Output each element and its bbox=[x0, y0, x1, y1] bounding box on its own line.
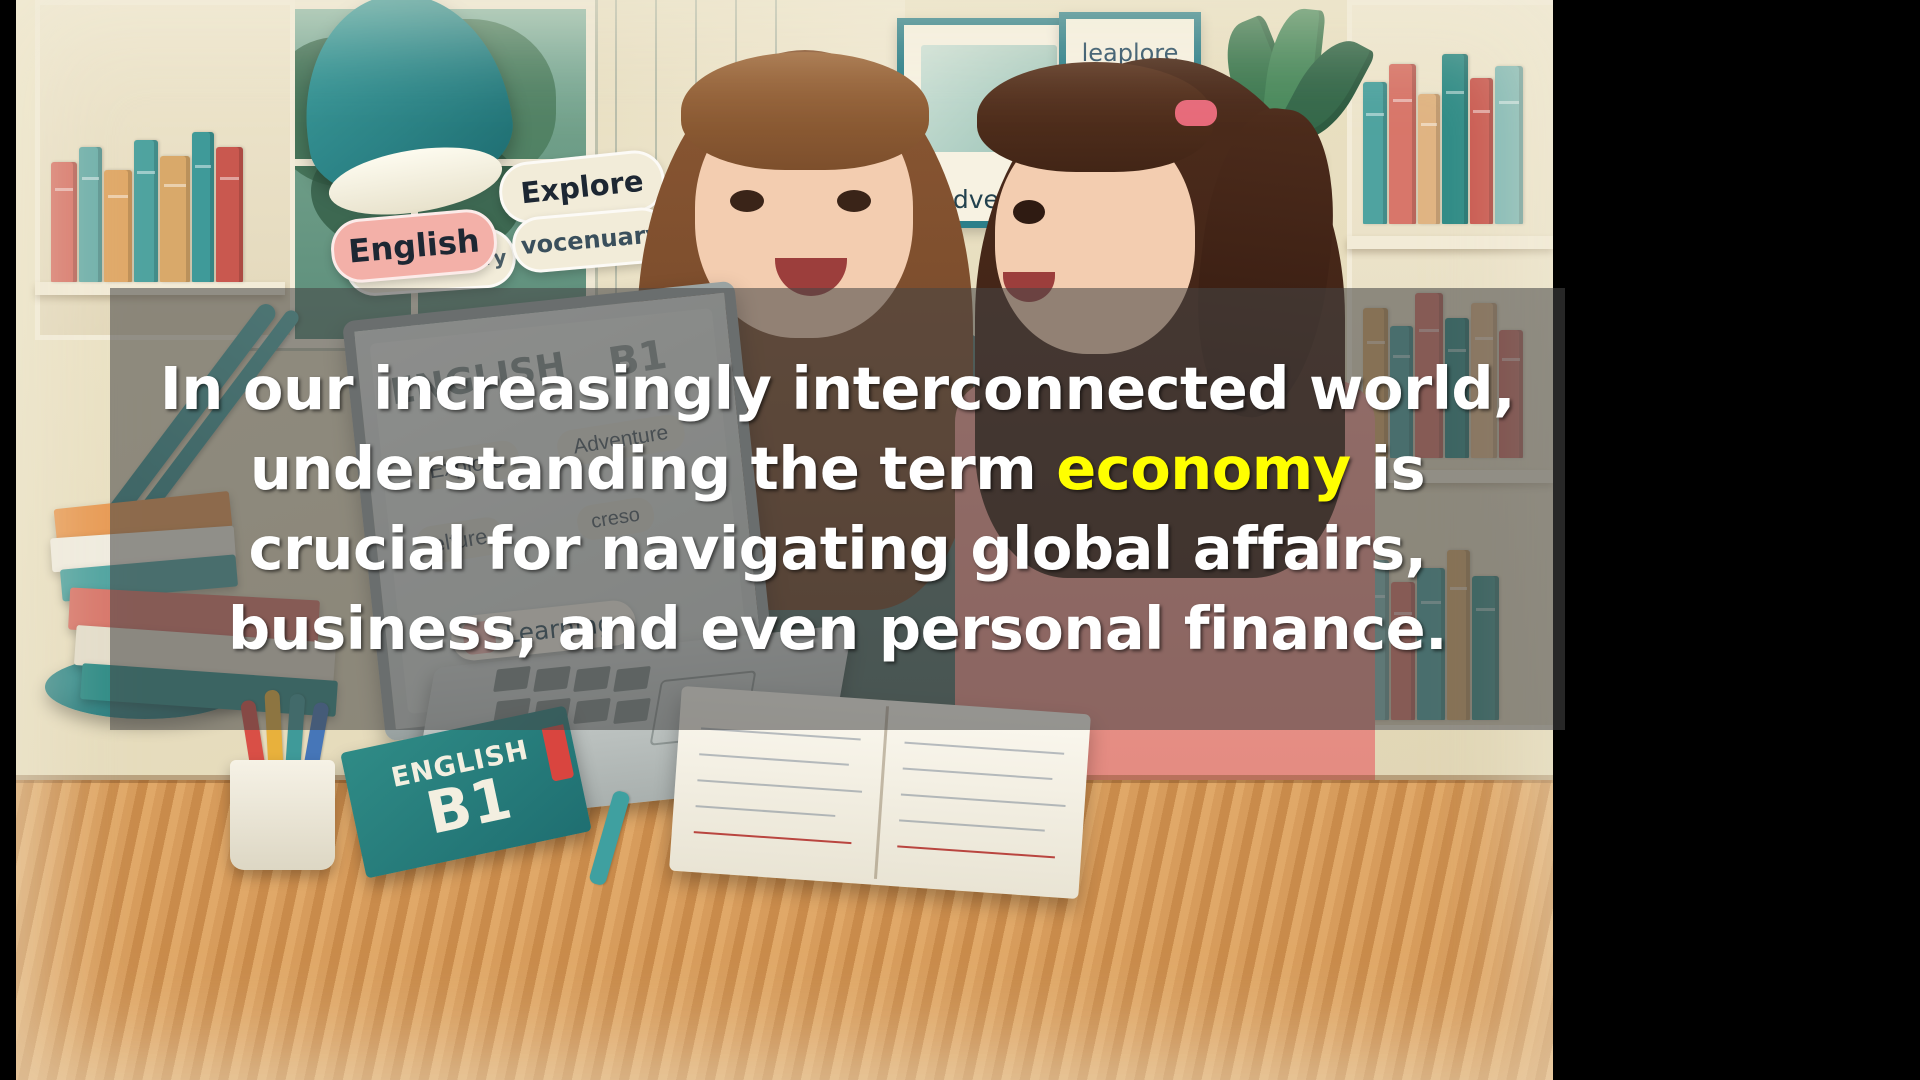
sticker-label: English bbox=[347, 221, 481, 270]
book-spine bbox=[1363, 82, 1387, 224]
book-spine bbox=[160, 156, 190, 282]
sticker-label: Explore bbox=[519, 164, 645, 211]
letterbox-bar-right bbox=[1553, 0, 1920, 1080]
caption-overlay: In our increasingly interconnected world… bbox=[110, 288, 1565, 730]
b1-book-level: B1 bbox=[421, 768, 516, 842]
caption-highlight-word: economy bbox=[1056, 434, 1351, 503]
book-spine bbox=[104, 170, 132, 282]
sticker-label: vocenuary bbox=[520, 220, 662, 260]
student-left-hair-front bbox=[681, 52, 929, 170]
notebook-line bbox=[697, 779, 862, 793]
book-spine bbox=[1389, 64, 1416, 224]
student-left-eye bbox=[837, 190, 871, 212]
notebook-line bbox=[897, 845, 1055, 858]
book-spine bbox=[192, 132, 214, 282]
student-right-eye bbox=[1013, 200, 1045, 224]
book-spine bbox=[1470, 78, 1493, 224]
book-spine bbox=[51, 162, 77, 282]
notebook-line bbox=[899, 819, 1045, 831]
book-spine bbox=[1418, 94, 1440, 224]
book-spine bbox=[79, 147, 102, 282]
book-spine bbox=[1442, 54, 1468, 224]
caption-line-1-text: In our increasingly interconnected world… bbox=[160, 354, 1515, 423]
book-spine bbox=[134, 140, 158, 282]
notebook-line bbox=[901, 793, 1066, 807]
book-spine bbox=[1495, 66, 1523, 224]
notebook-line bbox=[904, 742, 1064, 755]
student-left-eye bbox=[730, 190, 764, 212]
caption-line-2-post: is bbox=[1351, 434, 1425, 503]
screenshot-root: adventu leaplore ó Vocalilulary Explore … bbox=[0, 0, 1920, 1080]
caption-line-2-pre: understanding the term bbox=[250, 434, 1056, 503]
caption-line-4-text: business, and even personal finance. bbox=[228, 594, 1447, 663]
notebook-line bbox=[696, 805, 836, 817]
caption-line-4: business, and even personal finance. bbox=[228, 589, 1447, 669]
student-right-hair-tie bbox=[1175, 100, 1217, 126]
caption-line-3: crucial for navigating global affairs, bbox=[248, 509, 1426, 589]
caption-line-3-text: crucial for navigating global affairs, bbox=[248, 514, 1426, 583]
notebook-spine bbox=[874, 706, 889, 879]
caption-line-2: understanding the term economy is bbox=[250, 429, 1425, 509]
notebook-line bbox=[694, 831, 852, 844]
notebook-line bbox=[903, 768, 1053, 780]
letterbox-bar-left bbox=[0, 0, 16, 1080]
notebook-line bbox=[699, 753, 849, 765]
shelf-plank bbox=[1347, 236, 1553, 249]
caption-line-1: In our increasingly interconnected world… bbox=[160, 349, 1515, 429]
pencil-cup bbox=[230, 760, 335, 870]
book-spine bbox=[216, 147, 243, 282]
